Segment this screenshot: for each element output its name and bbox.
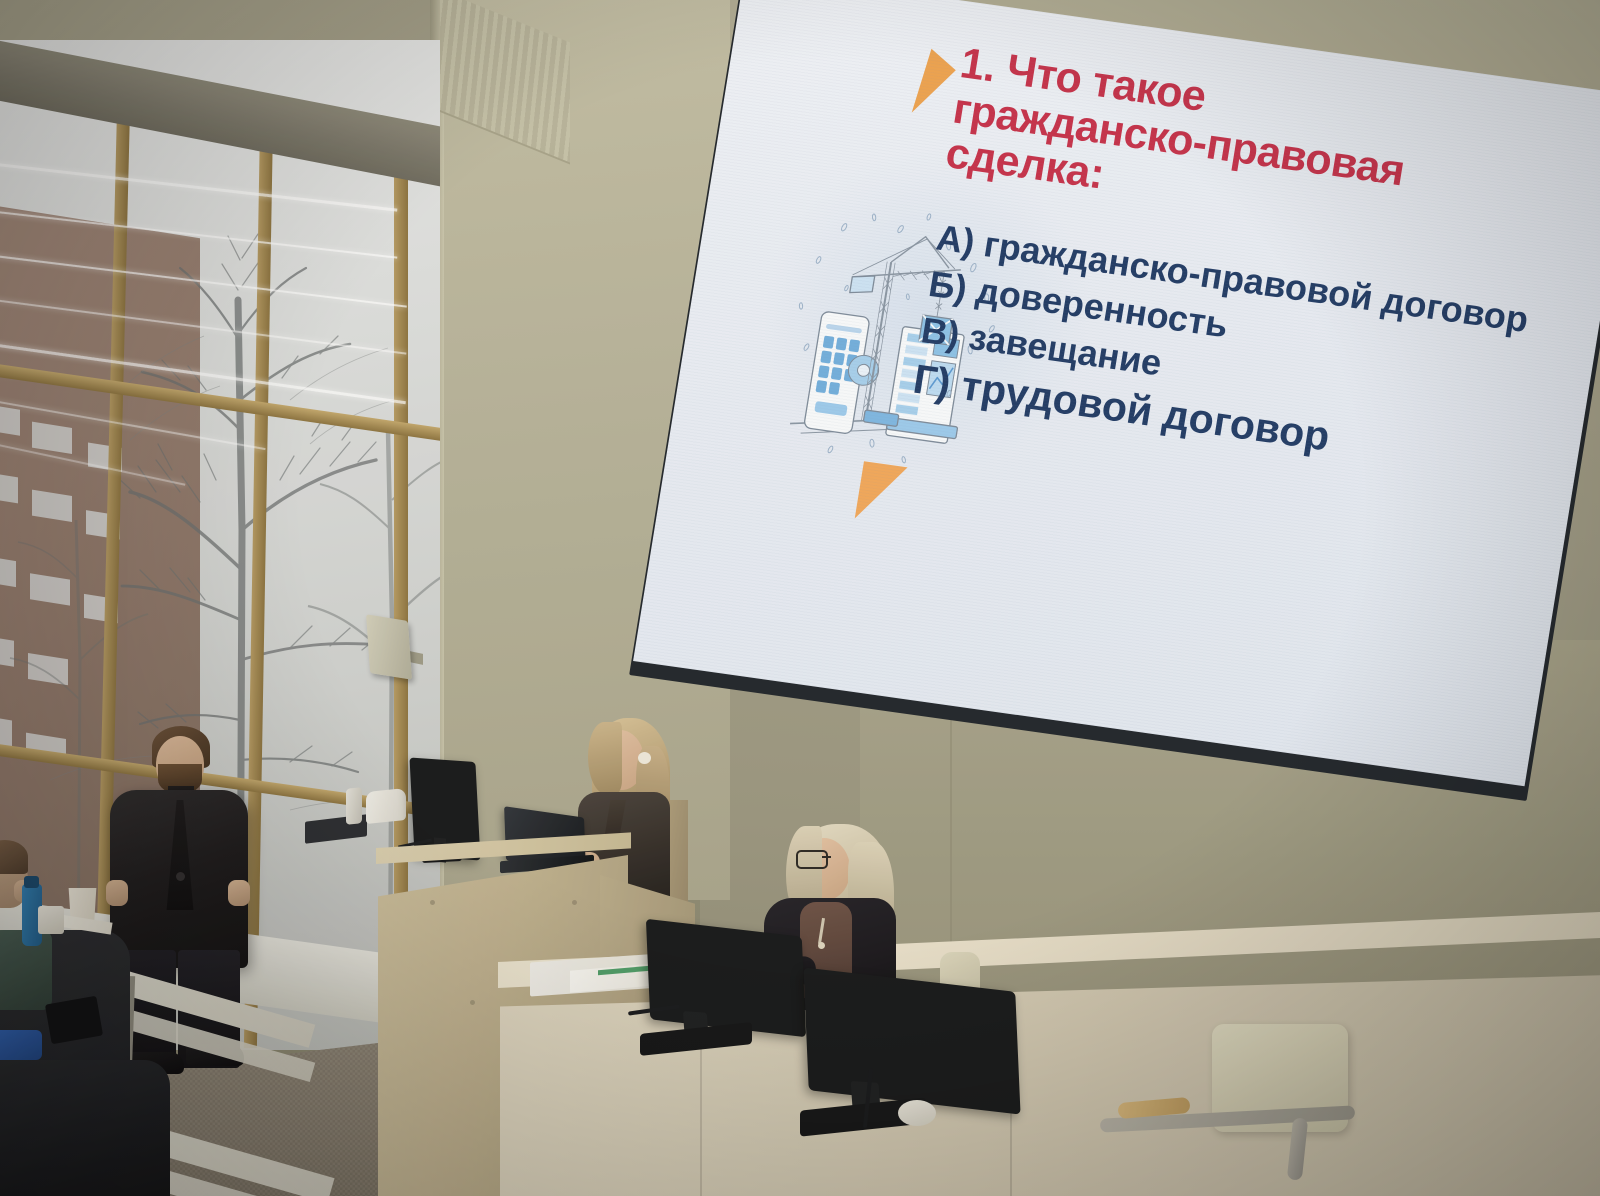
audience-blue-item	[0, 1030, 42, 1060]
desk-monitor-left[interactable]	[646, 919, 806, 1037]
glasses-icon	[796, 850, 828, 869]
slide-content: 1. Что такое гражданско-правовая сделка:…	[633, 0, 1600, 786]
bottle-cap	[24, 876, 39, 888]
lecture-hall-photo: 1. Что такое гражданско-правовая сделка:…	[0, 0, 1600, 1196]
sill-bag	[366, 788, 406, 824]
sill-bottle	[346, 787, 362, 825]
podium-woman-hair-front	[588, 722, 622, 794]
wall-speaker	[366, 614, 412, 680]
glasses-bridge	[822, 856, 831, 858]
audience-person-nearest	[0, 1060, 170, 1196]
projection-screen[interactable]: 1. Что такое гражданско-правовая сделка:…	[633, 0, 1600, 786]
necklace-pendant	[818, 942, 825, 949]
desk-panel-seam	[700, 1040, 702, 1196]
desk-monitor-right[interactable]	[803, 967, 1020, 1114]
audience-small-box	[38, 906, 64, 934]
podium-woman-hair-clip	[638, 752, 651, 764]
mouse[interactable]	[898, 1100, 936, 1126]
